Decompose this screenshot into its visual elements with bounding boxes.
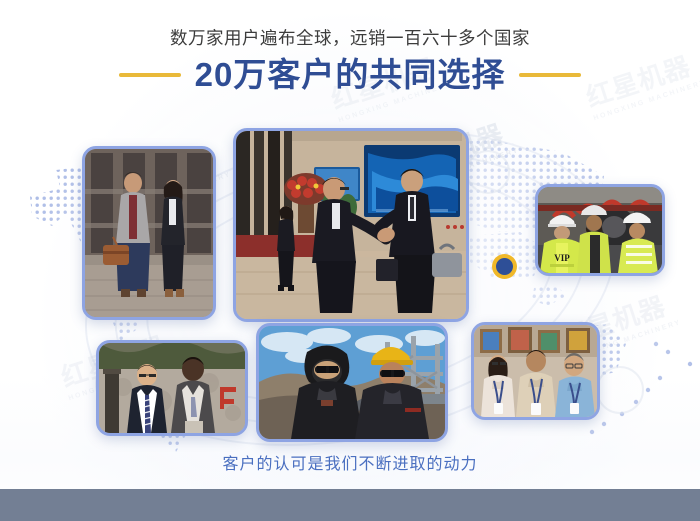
- photo-card-vip-workers[interactable]: VIP: [535, 184, 665, 276]
- photo-card-businessman-and-woman[interactable]: [82, 146, 216, 320]
- photo-image: [99, 343, 245, 433]
- banner-subtitle: 数万家用户遍布全球，远销一百六十多个国家: [0, 0, 700, 50]
- vip-badge-text: VIP: [554, 253, 570, 263]
- photo-image: [85, 149, 213, 317]
- watermark-ring-icon: [596, 366, 644, 414]
- photo-card-site-workers[interactable]: [256, 323, 448, 442]
- photo-card-two-businessmen[interactable]: [96, 340, 248, 436]
- photo-image: [474, 325, 597, 417]
- banner-footer-caption: 客户的认可是我们不断进取的动力: [0, 450, 700, 474]
- banner-title-row: 20万客户的共同选择: [0, 56, 700, 94]
- bottom-bar: [0, 489, 700, 521]
- photo-card-handshake[interactable]: [233, 128, 469, 322]
- promo-banner: 红星机器 HONGXING MACHINERY 红星机器 HONGXING MA…: [0, 0, 700, 521]
- watermark-ring-icon: [466, 150, 510, 194]
- photo-image: [259, 326, 445, 439]
- banner-header: 数万家用户遍布全球，远销一百六十多个国家 20万客户的共同选择: [0, 0, 700, 94]
- title-rule-left-icon: [119, 73, 181, 77]
- map-location-pin-icon: [496, 258, 513, 275]
- photo-image: VIP: [538, 187, 662, 273]
- banner-title: 20万客户的共同选择: [195, 56, 506, 94]
- photo-card-three-visitors[interactable]: [471, 322, 600, 420]
- photo-image: [236, 131, 466, 319]
- title-rule-right-icon: [519, 73, 581, 77]
